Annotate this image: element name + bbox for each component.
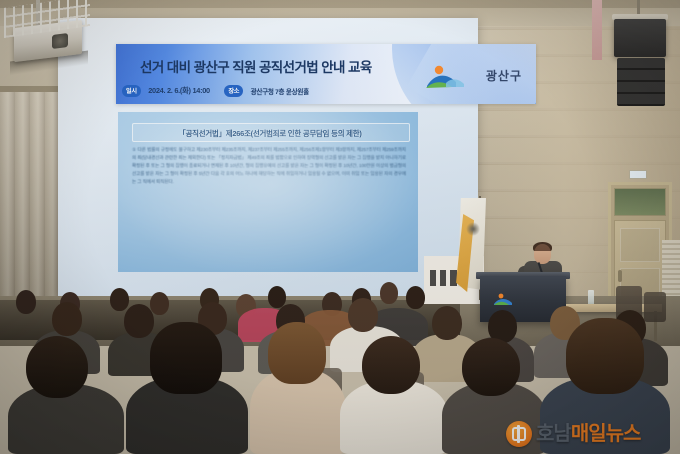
gwangsan-gu-logo-text: 광산구 xyxy=(486,67,522,84)
honam-news-logo-icon xyxy=(506,421,532,447)
audience-head xyxy=(380,282,398,304)
news-watermark: 호남매일뉴스 xyxy=(506,418,676,450)
watermark-text-secondary: 매일뉴스 xyxy=(571,423,641,445)
gwangsan-emblem-icon xyxy=(426,62,466,92)
banner-title: 선거 대비 광산구 직원 공직선거법 안내 교육 xyxy=(140,56,440,76)
ceiling-strip xyxy=(0,0,680,8)
event-banner: 선거 대비 광산구 직원 공직선거법 안내 교육 일시 2024. 2. 6.(… xyxy=(116,44,536,104)
place-pill-label: 장소 xyxy=(224,85,243,97)
banner-place-group: 장소 광산구청 7층 윤상원홀 xyxy=(224,82,309,100)
slide-body-text: ① 다른 법률의 규정에도 불구하고 제230조부터 제235조까지, 제237… xyxy=(132,146,406,185)
ceiling-projector-icon xyxy=(0,0,96,70)
audience-head xyxy=(16,290,36,314)
audience-head xyxy=(406,286,425,309)
audience-head-front xyxy=(26,336,88,398)
audience-head xyxy=(52,302,82,336)
audience-head xyxy=(348,298,378,332)
audience-head-front xyxy=(362,336,420,394)
audience-head-front xyxy=(462,338,520,396)
banner-date-group: 일시 2024. 2. 6.(화) 14:00 xyxy=(122,82,210,100)
slide-title: 「공직선거법」제266조(선거범죄로 인한 공무담임 등의 제한) xyxy=(136,128,404,139)
audience-head xyxy=(432,306,462,340)
audience-head-front xyxy=(566,318,644,394)
ceiling-speaker-icon xyxy=(614,19,666,57)
speaker-subwoofer-stack xyxy=(617,58,665,106)
audience-head-front xyxy=(150,322,222,394)
projector-lens-icon xyxy=(52,33,68,49)
audience-head xyxy=(124,304,154,338)
flag-emblem-icon xyxy=(466,222,480,236)
audience-head-front xyxy=(268,322,326,384)
wall-drape xyxy=(592,0,602,60)
watermark-text-primary: 호남 xyxy=(536,423,571,445)
audience-head xyxy=(110,288,129,311)
projected-slide: 「공직선거법」제266조(선거범죄로 인한 공무담임 등의 제한) ① 다른 법… xyxy=(118,112,418,272)
banner-meta: 일시 2024. 2. 6.(화) 14:00 장소 광산구청 7층 윤상원홀 xyxy=(122,82,452,98)
door-transom-window xyxy=(614,188,666,216)
gwangsan-gu-logo: 광산구 xyxy=(426,60,522,94)
banner-place-value: 광산구청 7층 윤상원홀 xyxy=(251,86,309,96)
date-pill-label: 일시 xyxy=(122,85,141,97)
banner-date-value: 2024. 2. 6.(화) 14:00 xyxy=(148,85,210,96)
audience-head xyxy=(150,292,169,315)
watermark-text: 호남매일뉴스 xyxy=(536,424,640,444)
photo-canvas: 「공직선거법」제266조(선거범죄로 인한 공무담임 등의 제한) ① 다른 법… xyxy=(0,0,680,454)
exit-sign-icon xyxy=(629,170,647,179)
